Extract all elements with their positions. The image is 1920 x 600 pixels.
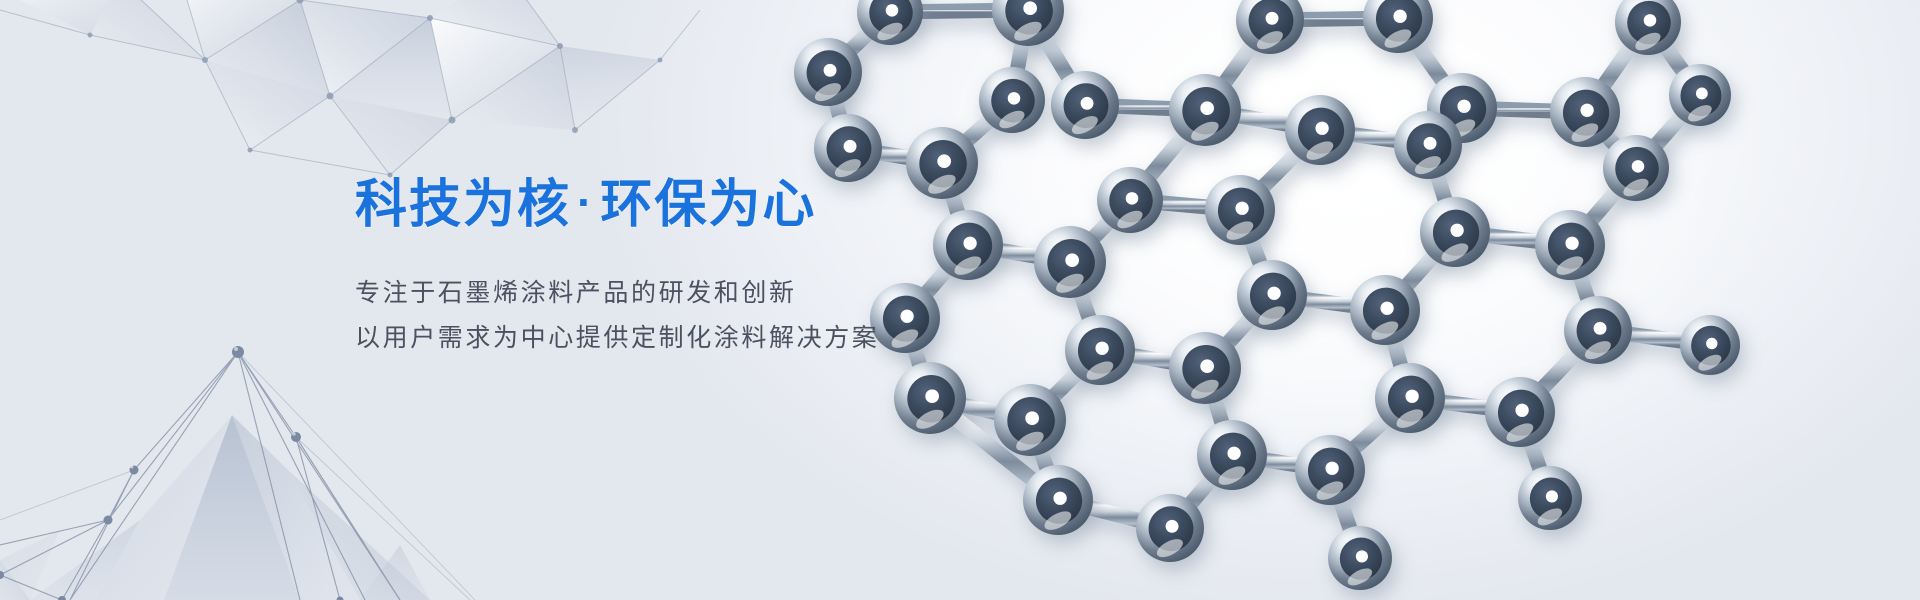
graphene-lattice-graphic xyxy=(0,0,1920,600)
hero-text-block: 科技为核·环保为心 专注于石墨烯涂料产品的研发和创新 以用户需求为中心提供定制化… xyxy=(355,178,879,362)
subtitle-line-1: 专注于石墨烯涂料产品的研发和创新 xyxy=(355,271,879,317)
subtitle-line-2: 以用户需求为中心提供定制化涂料解决方案 xyxy=(355,316,879,362)
page-title: 科技为核·环保为心 xyxy=(355,178,879,233)
headline-part2: 环保为心 xyxy=(600,176,816,234)
hero-subtitle: 专注于石墨烯涂料产品的研发和创新 以用户需求为中心提供定制化涂料解决方案 xyxy=(355,271,879,362)
headline-separator: · xyxy=(571,176,600,228)
hero-banner: 科技为核·环保为心 专注于石墨烯涂料产品的研发和创新 以用户需求为中心提供定制化… xyxy=(0,0,1920,600)
headline-part1: 科技为核 xyxy=(355,176,571,234)
